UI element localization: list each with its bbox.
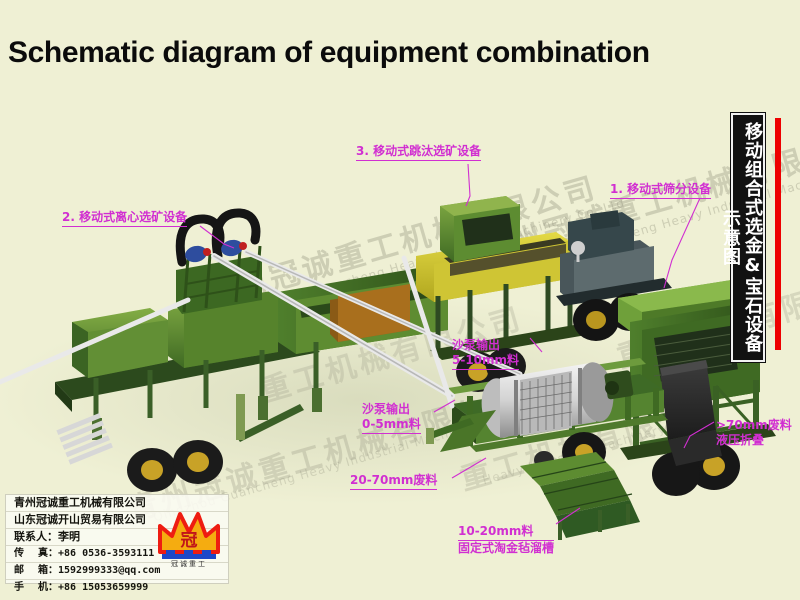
contact-value: 李明	[58, 530, 80, 543]
mobile-label-b: 机	[38, 582, 48, 593]
label-equip-3[interactable]: 3. 移动式跳汰选矿设备	[356, 144, 481, 161]
label-waste-20-70[interactable]: 20-70mm废料	[350, 473, 437, 490]
crown-mark: 冠	[181, 531, 198, 551]
schematic-canvas: Schematic diagram of equipment combinati…	[0, 0, 800, 600]
email-value: 1592999333@qq.com	[58, 565, 160, 576]
label-equip-2[interactable]: 2. 移动式离心选矿设备	[62, 210, 187, 227]
contact-label: 联系人	[14, 529, 47, 545]
crown-logo-icon: 冠 冠诚重工	[156, 506, 222, 568]
fax-label-b: 真	[38, 548, 48, 559]
label-sluice-10-20[interactable]: 10-20mm料 固定式淘金毡溜槽	[458, 524, 554, 556]
contact-colon: ：	[47, 530, 58, 543]
mobile-label-a: 手	[14, 582, 24, 593]
email-colon: ：	[48, 565, 58, 576]
email-label-b: 箱	[38, 565, 48, 576]
logo-caption: 冠诚重工	[171, 559, 207, 568]
fax-value: +86 0536-3593111	[58, 548, 154, 559]
label-pump-out-5-10[interactable]: 沙泵输出 5-10mm料	[452, 338, 519, 370]
fax-label-a: 传	[14, 548, 24, 559]
fax-colon: ：	[48, 548, 58, 559]
mobile-value: +86 15053659999	[58, 582, 148, 593]
label-waste-over-70[interactable]: >70mm废料 液压折叠	[716, 418, 792, 448]
mobile-colon: ：	[48, 582, 58, 593]
mobile-row: 手机：+86 15053659999	[6, 580, 228, 596]
email-label-a: 邮	[14, 565, 24, 576]
label-equip-1[interactable]: 1. 移动式筛分设备	[610, 182, 711, 199]
label-pump-out-0-5[interactable]: 沙泵输出 0-5mm料	[362, 402, 421, 434]
